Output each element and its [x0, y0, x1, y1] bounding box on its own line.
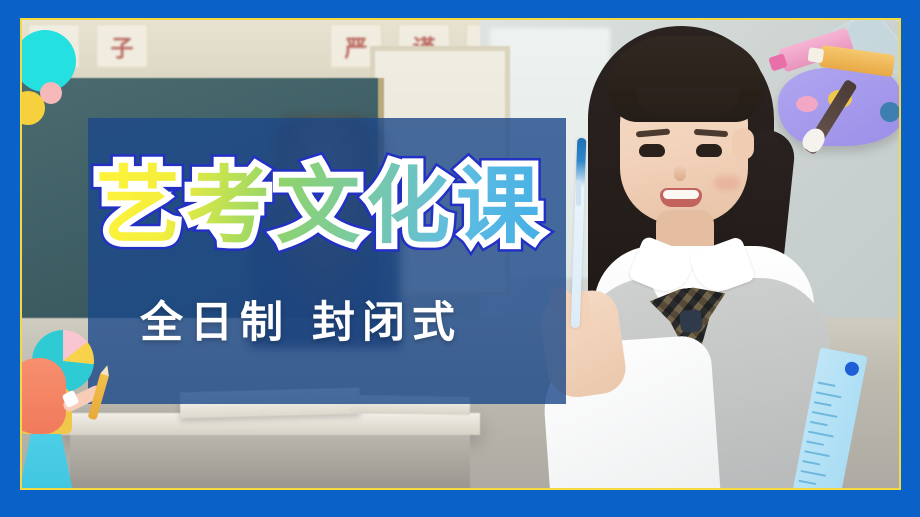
bowtie-knot	[679, 309, 703, 333]
ruler-tick	[802, 460, 820, 465]
triangle-label-b: b	[860, 28, 866, 40]
banner-gap	[164, 24, 314, 25]
page-title: 艺考文化课	[96, 150, 576, 262]
ruler-tick	[806, 440, 824, 445]
teeth	[663, 190, 699, 199]
art-palette: a b c	[768, 6, 920, 158]
ruler-tick	[810, 421, 828, 426]
ruler-tick	[798, 480, 816, 485]
ruler-tick	[800, 470, 826, 477]
ear	[732, 128, 754, 160]
border-bar-left	[0, 0, 20, 517]
border-bar-bottom	[0, 490, 920, 517]
ruler-hole	[844, 361, 860, 377]
bangs	[608, 36, 764, 122]
border-bar-top	[0, 0, 920, 18]
eye-left	[639, 144, 665, 157]
ruler-tick	[817, 382, 835, 387]
poster-canvas: 禾 子 严 谨 善 思 潮课	[0, 0, 920, 517]
mouth	[660, 188, 702, 207]
blush	[714, 176, 740, 190]
pen-clip	[576, 180, 581, 206]
paint-blob-pink	[796, 96, 818, 112]
ruler-tick	[814, 401, 832, 406]
nose	[674, 165, 686, 181]
palette-thumb-hole	[880, 102, 900, 122]
page-subtitle: 全日制 封闭式	[140, 288, 560, 350]
ruler-tick	[812, 411, 838, 418]
ruler-tick	[816, 391, 842, 398]
title-block: 艺考文化课 艺考文化课 艺考文化课	[96, 150, 576, 270]
ruler-tick	[808, 431, 834, 438]
ruler-tick	[804, 450, 830, 457]
banner-character: 子	[96, 24, 148, 68]
border-bar-right	[901, 0, 920, 517]
eye-right	[696, 144, 722, 157]
